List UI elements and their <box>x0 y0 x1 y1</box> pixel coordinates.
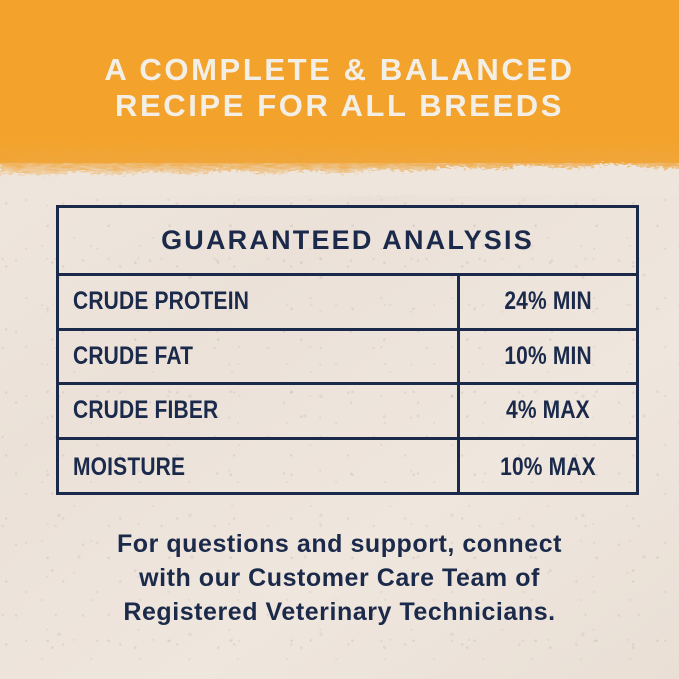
nutrient-value: 4% MAX <box>506 398 590 423</box>
nutrient-label: MOISTURE <box>73 455 185 480</box>
nutrient-label-cell: CRUDE FAT <box>59 331 460 383</box>
nutrient-value-cell: 10% MIN <box>460 331 636 383</box>
table-row: CRUDE FAT 10% MIN <box>59 331 636 386</box>
table-row: MOISTURE 10% MAX <box>59 440 636 495</box>
headline-line-2: RECIPE FOR ALL BREEDS <box>0 88 679 124</box>
nutrient-value-cell: 4% MAX <box>460 385 636 437</box>
table-row: CRUDE PROTEIN 24% MIN <box>59 276 636 331</box>
table-row: CRUDE FIBER 4% MAX <box>59 385 636 440</box>
nutrient-value: 10% MIN <box>504 344 592 369</box>
nutrient-label: CRUDE FAT <box>73 344 193 369</box>
guaranteed-analysis-header: GUARANTEED ANALYSIS <box>59 208 636 276</box>
nutrient-label: CRUDE PROTEIN <box>73 289 249 314</box>
nutrient-label-cell: CRUDE FIBER <box>59 385 460 437</box>
support-note-line-1: For questions and support, connect <box>0 527 679 561</box>
support-note-line-3: Registered Veterinary Technicians. <box>0 595 679 629</box>
banner-headline: A COMPLETE & BALANCED RECIPE FOR ALL BRE… <box>0 52 679 124</box>
nutrient-value-cell: 10% MAX <box>460 440 636 495</box>
nutrient-value: 24% MIN <box>504 289 592 314</box>
nutrient-label-cell: MOISTURE <box>59 440 460 495</box>
headline-line-1: A COMPLETE & BALANCED <box>0 52 679 88</box>
guaranteed-analysis-title: GUARANTEED ANALYSIS <box>161 227 534 254</box>
nutrient-value: 10% MAX <box>500 455 596 480</box>
nutrient-label: CRUDE FIBER <box>73 398 218 423</box>
support-note-line-2: with our Customer Care Team of <box>0 561 679 595</box>
product-info-panel: A COMPLETE & BALANCED RECIPE FOR ALL BRE… <box>0 0 679 679</box>
nutrient-value-cell: 24% MIN <box>460 276 636 328</box>
customer-support-note: For questions and support, connect with … <box>0 527 679 629</box>
nutrient-label-cell: CRUDE PROTEIN <box>59 276 460 328</box>
guaranteed-analysis-table: GUARANTEED ANALYSIS CRUDE PROTEIN 24% MI… <box>56 205 639 495</box>
